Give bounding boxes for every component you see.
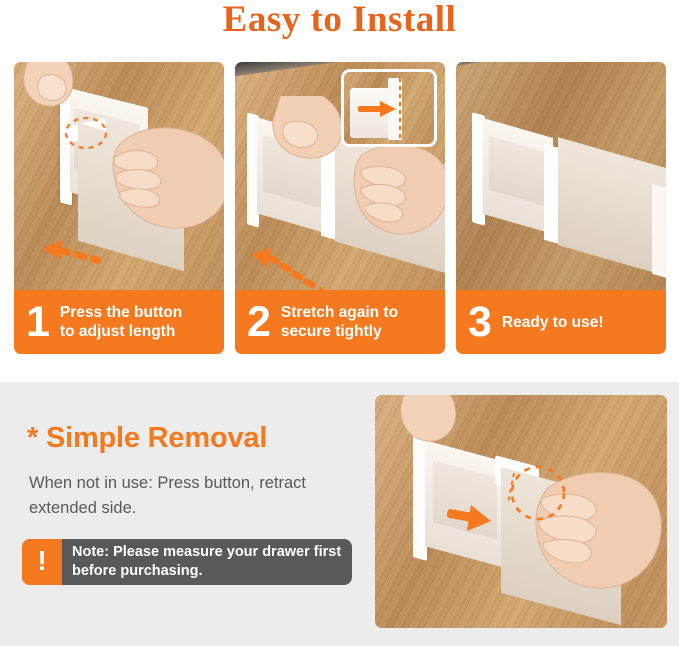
product-infographic: Easy to Install — [0, 0, 679, 646]
removal-heading: * Simple Removal — [27, 422, 267, 455]
removal-photo — [375, 395, 667, 628]
inset-divider-face — [350, 88, 390, 138]
step-1-text-line1: Press the button — [60, 304, 182, 321]
note-body: Please measure your drawer first before … — [72, 544, 341, 579]
step-card-1: 1 Press the button to adjust length — [14, 62, 224, 354]
step-1-caption: 1 Press the button to adjust length — [14, 290, 224, 354]
step-2-text-line2: secure tightly — [281, 323, 382, 340]
step-2-text-line1: Stretch again to — [281, 304, 398, 321]
step-card-3: 3 Ready to use! — [456, 62, 666, 354]
step-3-number: 3 — [468, 301, 491, 344]
step-2-number: 2 — [247, 301, 270, 344]
removal-body-text: When not in use: Press button, retract e… — [29, 471, 359, 521]
step-2-text: Stretch again to secure tightly — [281, 303, 398, 341]
step-2-inset — [341, 69, 437, 147]
step-card-2: 2 Stretch again to secure tightly — [235, 62, 445, 354]
step-2-caption: 2 Stretch again to secure tightly — [235, 290, 445, 354]
step-1-text-line2: to adjust length — [60, 323, 175, 340]
step-1-text: Press the button to adjust length — [60, 303, 182, 341]
note-label: Note: — [72, 544, 109, 560]
step-3-text-line1: Ready to use! — [502, 314, 604, 331]
step-1-number: 1 — [26, 301, 49, 344]
inset-divider-slider — [388, 78, 402, 140]
step-3-text: Ready to use! — [502, 313, 604, 332]
simple-removal-section: * Simple Removal When not in use: Press … — [0, 382, 679, 646]
exclamation-icon: ! — [22, 539, 62, 585]
note-banner: ! Note: Please measure your drawer first… — [22, 539, 352, 585]
step-3-caption: 3 Ready to use! — [456, 290, 666, 354]
steps-row: 1 Press the button to adjust length — [14, 62, 667, 354]
note-text: Note: Please measure your drawer first b… — [62, 539, 352, 585]
drawer-far-wall — [652, 184, 666, 283]
page-title: Easy to Install — [0, 0, 679, 41]
